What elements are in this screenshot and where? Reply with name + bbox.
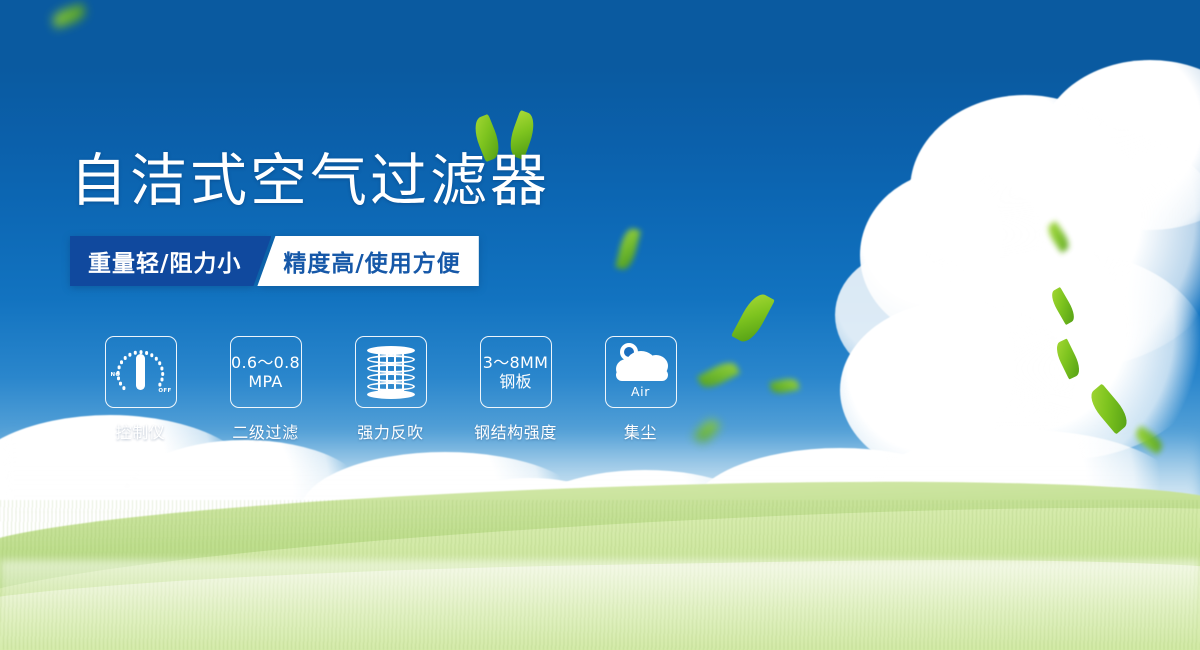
feature-item-dust[interactable]: Air 集尘 — [578, 336, 703, 443]
feature-label: 集尘 — [624, 419, 657, 443]
dial-control-icon: NO OFF — [105, 336, 177, 408]
pressure-line-1: 0.6～0.8 — [231, 353, 300, 372]
cloud-graphic — [614, 343, 668, 383]
page-title: 自洁式空气过滤器 — [70, 146, 550, 216]
dial-graphic: NO OFF — [112, 345, 170, 399]
feature-item-pressure[interactable]: 0.6～0.8 MPA 二级过滤 — [203, 336, 328, 443]
feature-badge: 重量轻/阻力小 精度高/使用方便 — [70, 236, 479, 286]
feature-item-blowback[interactable]: 强力反吹 — [328, 336, 453, 443]
grass-highlight — [0, 560, 1200, 650]
feature-label: 强力反吹 — [357, 419, 423, 443]
dial-needle — [136, 354, 145, 390]
air-label: Air — [631, 384, 650, 399]
feature-item-control[interactable]: NO OFF 控制仪 — [78, 336, 203, 443]
pressure-line-2: MPA — [248, 372, 282, 391]
steel-plate-text-icon: 3～8MM 钢板 — [480, 336, 552, 408]
feature-label: 控制仪 — [116, 419, 166, 443]
feature-label: 钢结构强度 — [474, 419, 557, 443]
badge-left-text: 重量轻/阻力小 — [70, 236, 271, 286]
pressure-text-icon: 0.6～0.8 MPA — [230, 336, 302, 408]
feature-label: 二级过滤 — [232, 419, 298, 443]
coil-graphic — [367, 346, 415, 398]
badge-right-text: 精度高/使用方便 — [257, 236, 478, 286]
feature-item-steel[interactable]: 3～8MM 钢板 钢结构强度 — [453, 336, 578, 443]
filter-coil-icon — [355, 336, 427, 408]
air-cloud-icon: Air — [605, 336, 677, 408]
dial-label-on: NO — [111, 372, 121, 378]
feature-list: NO OFF 控制仪 0.6～0.8 MPA 二级过滤 — [78, 336, 703, 443]
steel-line-2: 钢板 — [499, 372, 532, 391]
dial-label-off: OFF — [158, 388, 171, 394]
product-banner: 自洁式空气过滤器 重量轻/阻力小 精度高/使用方便 — [0, 0, 1200, 650]
steel-line-1: 3～8MM — [483, 353, 548, 372]
